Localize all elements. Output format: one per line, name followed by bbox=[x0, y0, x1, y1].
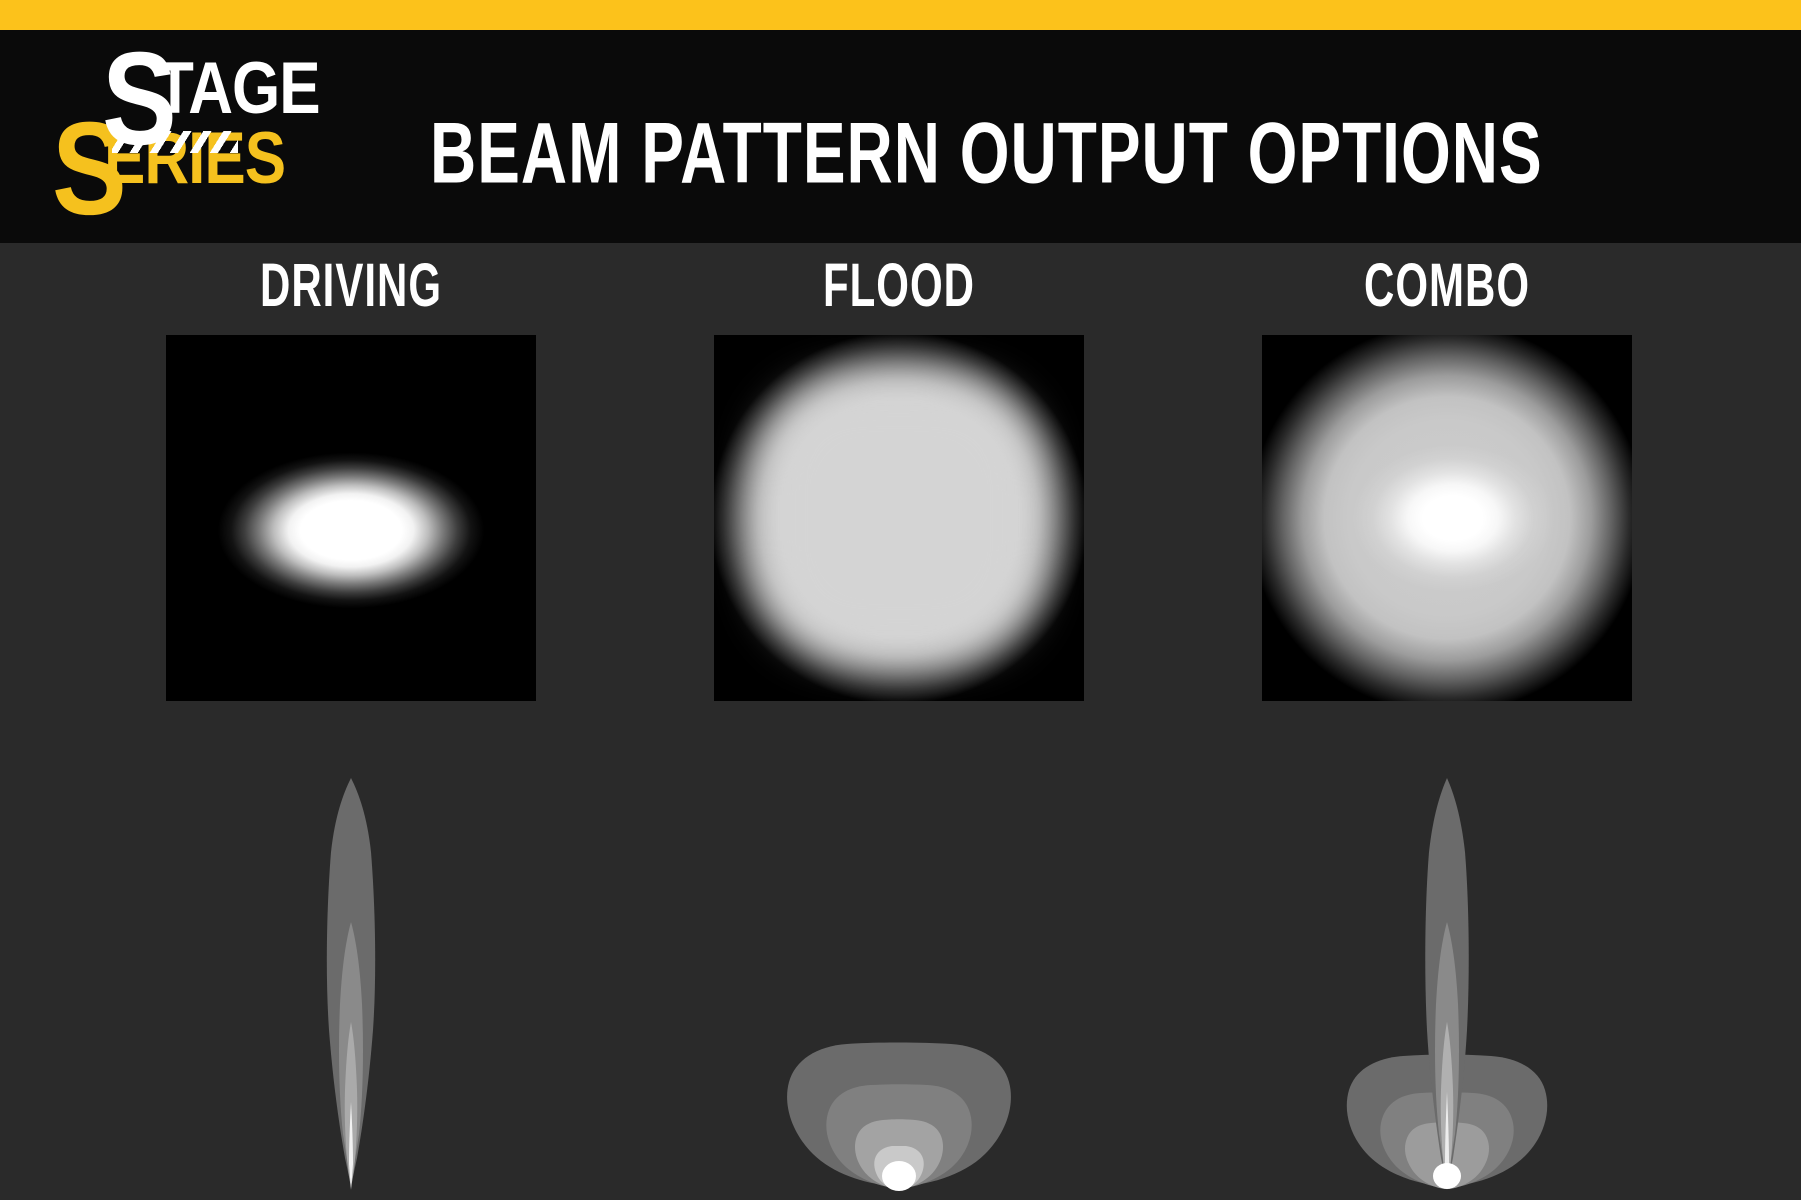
column-label-flood: FLOOD bbox=[649, 251, 1149, 321]
content-area: DRIVING FLOOD bbox=[0, 243, 1801, 1200]
beam-pattern-swatch-driving bbox=[166, 335, 536, 701]
column-label-combo: COMBO bbox=[1197, 251, 1697, 321]
beam-pattern-swatch-combo bbox=[1262, 335, 1632, 701]
logo-stripes-decoration bbox=[112, 131, 238, 153]
stage-series-logo: S S TAGE ERIES bbox=[60, 45, 390, 190]
beam-shape-flood bbox=[649, 772, 1149, 1192]
beam-pattern-swatch-flood bbox=[714, 335, 1084, 701]
beam-column-combo: COMBO bbox=[1197, 243, 1697, 1200]
beam-column-driving: DRIVING bbox=[101, 243, 601, 1200]
page-title: BEAM PATTERN OUTPUT OPTIONS bbox=[430, 103, 1543, 203]
beam-shape-driving bbox=[101, 772, 601, 1192]
top-accent-bar bbox=[0, 0, 1801, 30]
column-label-driving: DRIVING bbox=[101, 251, 601, 321]
beam-shape-combo bbox=[1197, 772, 1697, 1192]
beam-column-flood: FLOOD bbox=[649, 243, 1149, 1200]
